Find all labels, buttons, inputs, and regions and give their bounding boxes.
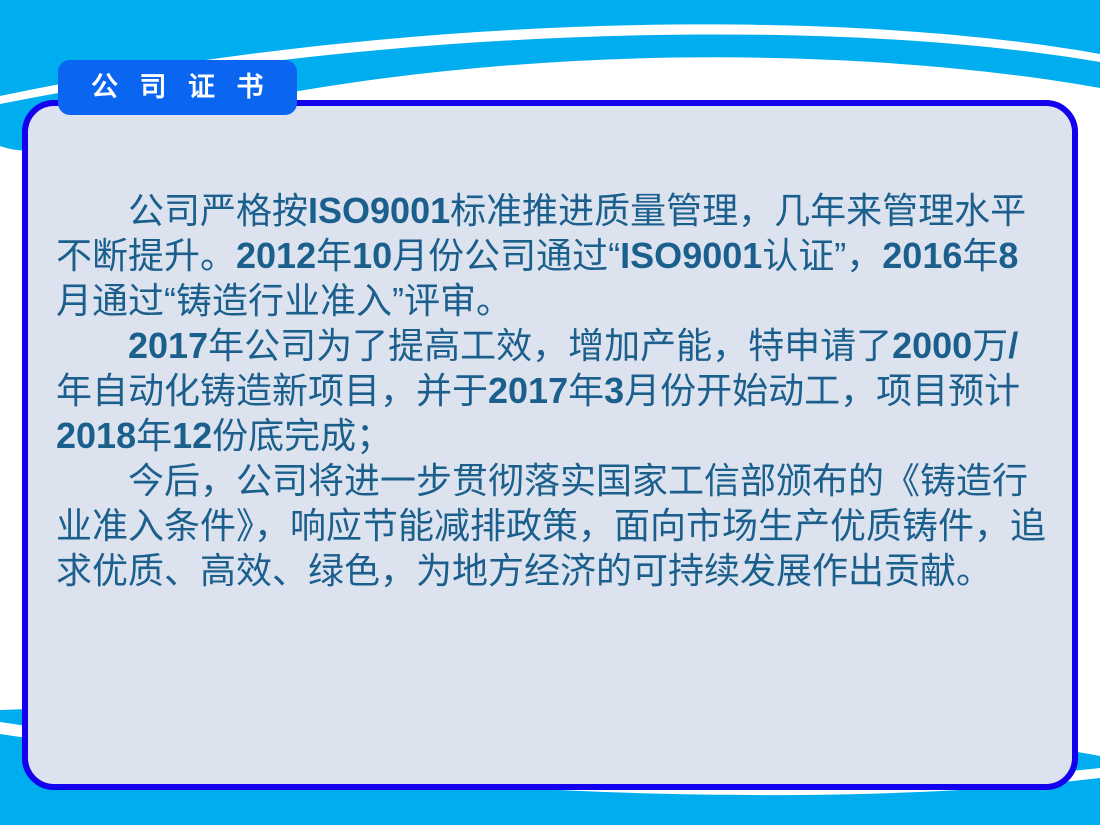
text-run: 认证”， bbox=[762, 235, 882, 276]
text-run: 年 bbox=[136, 415, 172, 456]
text-run: 月份开始动工，项目预计 bbox=[624, 370, 1020, 411]
text-run: 年 bbox=[568, 370, 604, 411]
text-run: / bbox=[1008, 325, 1018, 366]
text-run: 年自动化铸造新项目，并于 bbox=[56, 370, 488, 411]
text-run: 份底完成； bbox=[212, 415, 392, 456]
text-run: 2016 bbox=[882, 235, 962, 276]
text-run: 12 bbox=[172, 415, 212, 456]
text-run: ISO9001 bbox=[620, 235, 762, 276]
text-run: 月通过“铸造行业准入”评审。 bbox=[56, 280, 512, 321]
text-run: 8 bbox=[998, 235, 1018, 276]
title-badge-label: 公 司 证 书 bbox=[84, 74, 271, 101]
text-run: 10 bbox=[352, 235, 392, 276]
text-run: 年 bbox=[962, 235, 998, 276]
text-run: 2000 bbox=[892, 325, 972, 366]
text-run: 年 bbox=[316, 235, 352, 276]
paragraph-2: 2017年公司为了提高工效，增加产能，特申请了2000万/年自动化铸造新项目，并… bbox=[56, 323, 1046, 458]
text-run: 2012 bbox=[236, 235, 316, 276]
text-run: 年公司为了提高工效，增加产能，特申请了 bbox=[208, 325, 892, 366]
text-run: ISO9001 bbox=[308, 190, 450, 231]
text-run: 月份公司通过“ bbox=[392, 235, 620, 276]
text-run: 2018 bbox=[56, 415, 136, 456]
text-run: 公司严格按 bbox=[128, 190, 308, 231]
text-run: 2017 bbox=[488, 370, 568, 411]
paragraph-3: 今后，公司将进一步贯彻落实国家工信部颁布的《铸造行业准入条件》，响应节能减排政策… bbox=[56, 458, 1046, 593]
body-text-block: 公司严格按ISO9001标准推进质量管理，几年来管理水平不断提升。2012年10… bbox=[56, 188, 1046, 593]
text-run: 3 bbox=[604, 370, 624, 411]
text-run: 2017 bbox=[128, 325, 208, 366]
text-run: 今后，公司将进一步贯彻落实国家工信部颁布的《铸造行业准入条件》，响应节能减排政策… bbox=[56, 460, 1046, 591]
title-badge[interactable]: 公 司 证 书 bbox=[58, 60, 297, 115]
paragraph-1: 公司严格按ISO9001标准推进质量管理，几年来管理水平不断提升。2012年10… bbox=[56, 188, 1046, 323]
text-run: 万 bbox=[972, 325, 1008, 366]
content-panel: 公司严格按ISO9001标准推进质量管理，几年来管理水平不断提升。2012年10… bbox=[22, 100, 1078, 790]
slide-canvas: 公司严格按ISO9001标准推进质量管理，几年来管理水平不断提升。2012年10… bbox=[0, 0, 1100, 825]
